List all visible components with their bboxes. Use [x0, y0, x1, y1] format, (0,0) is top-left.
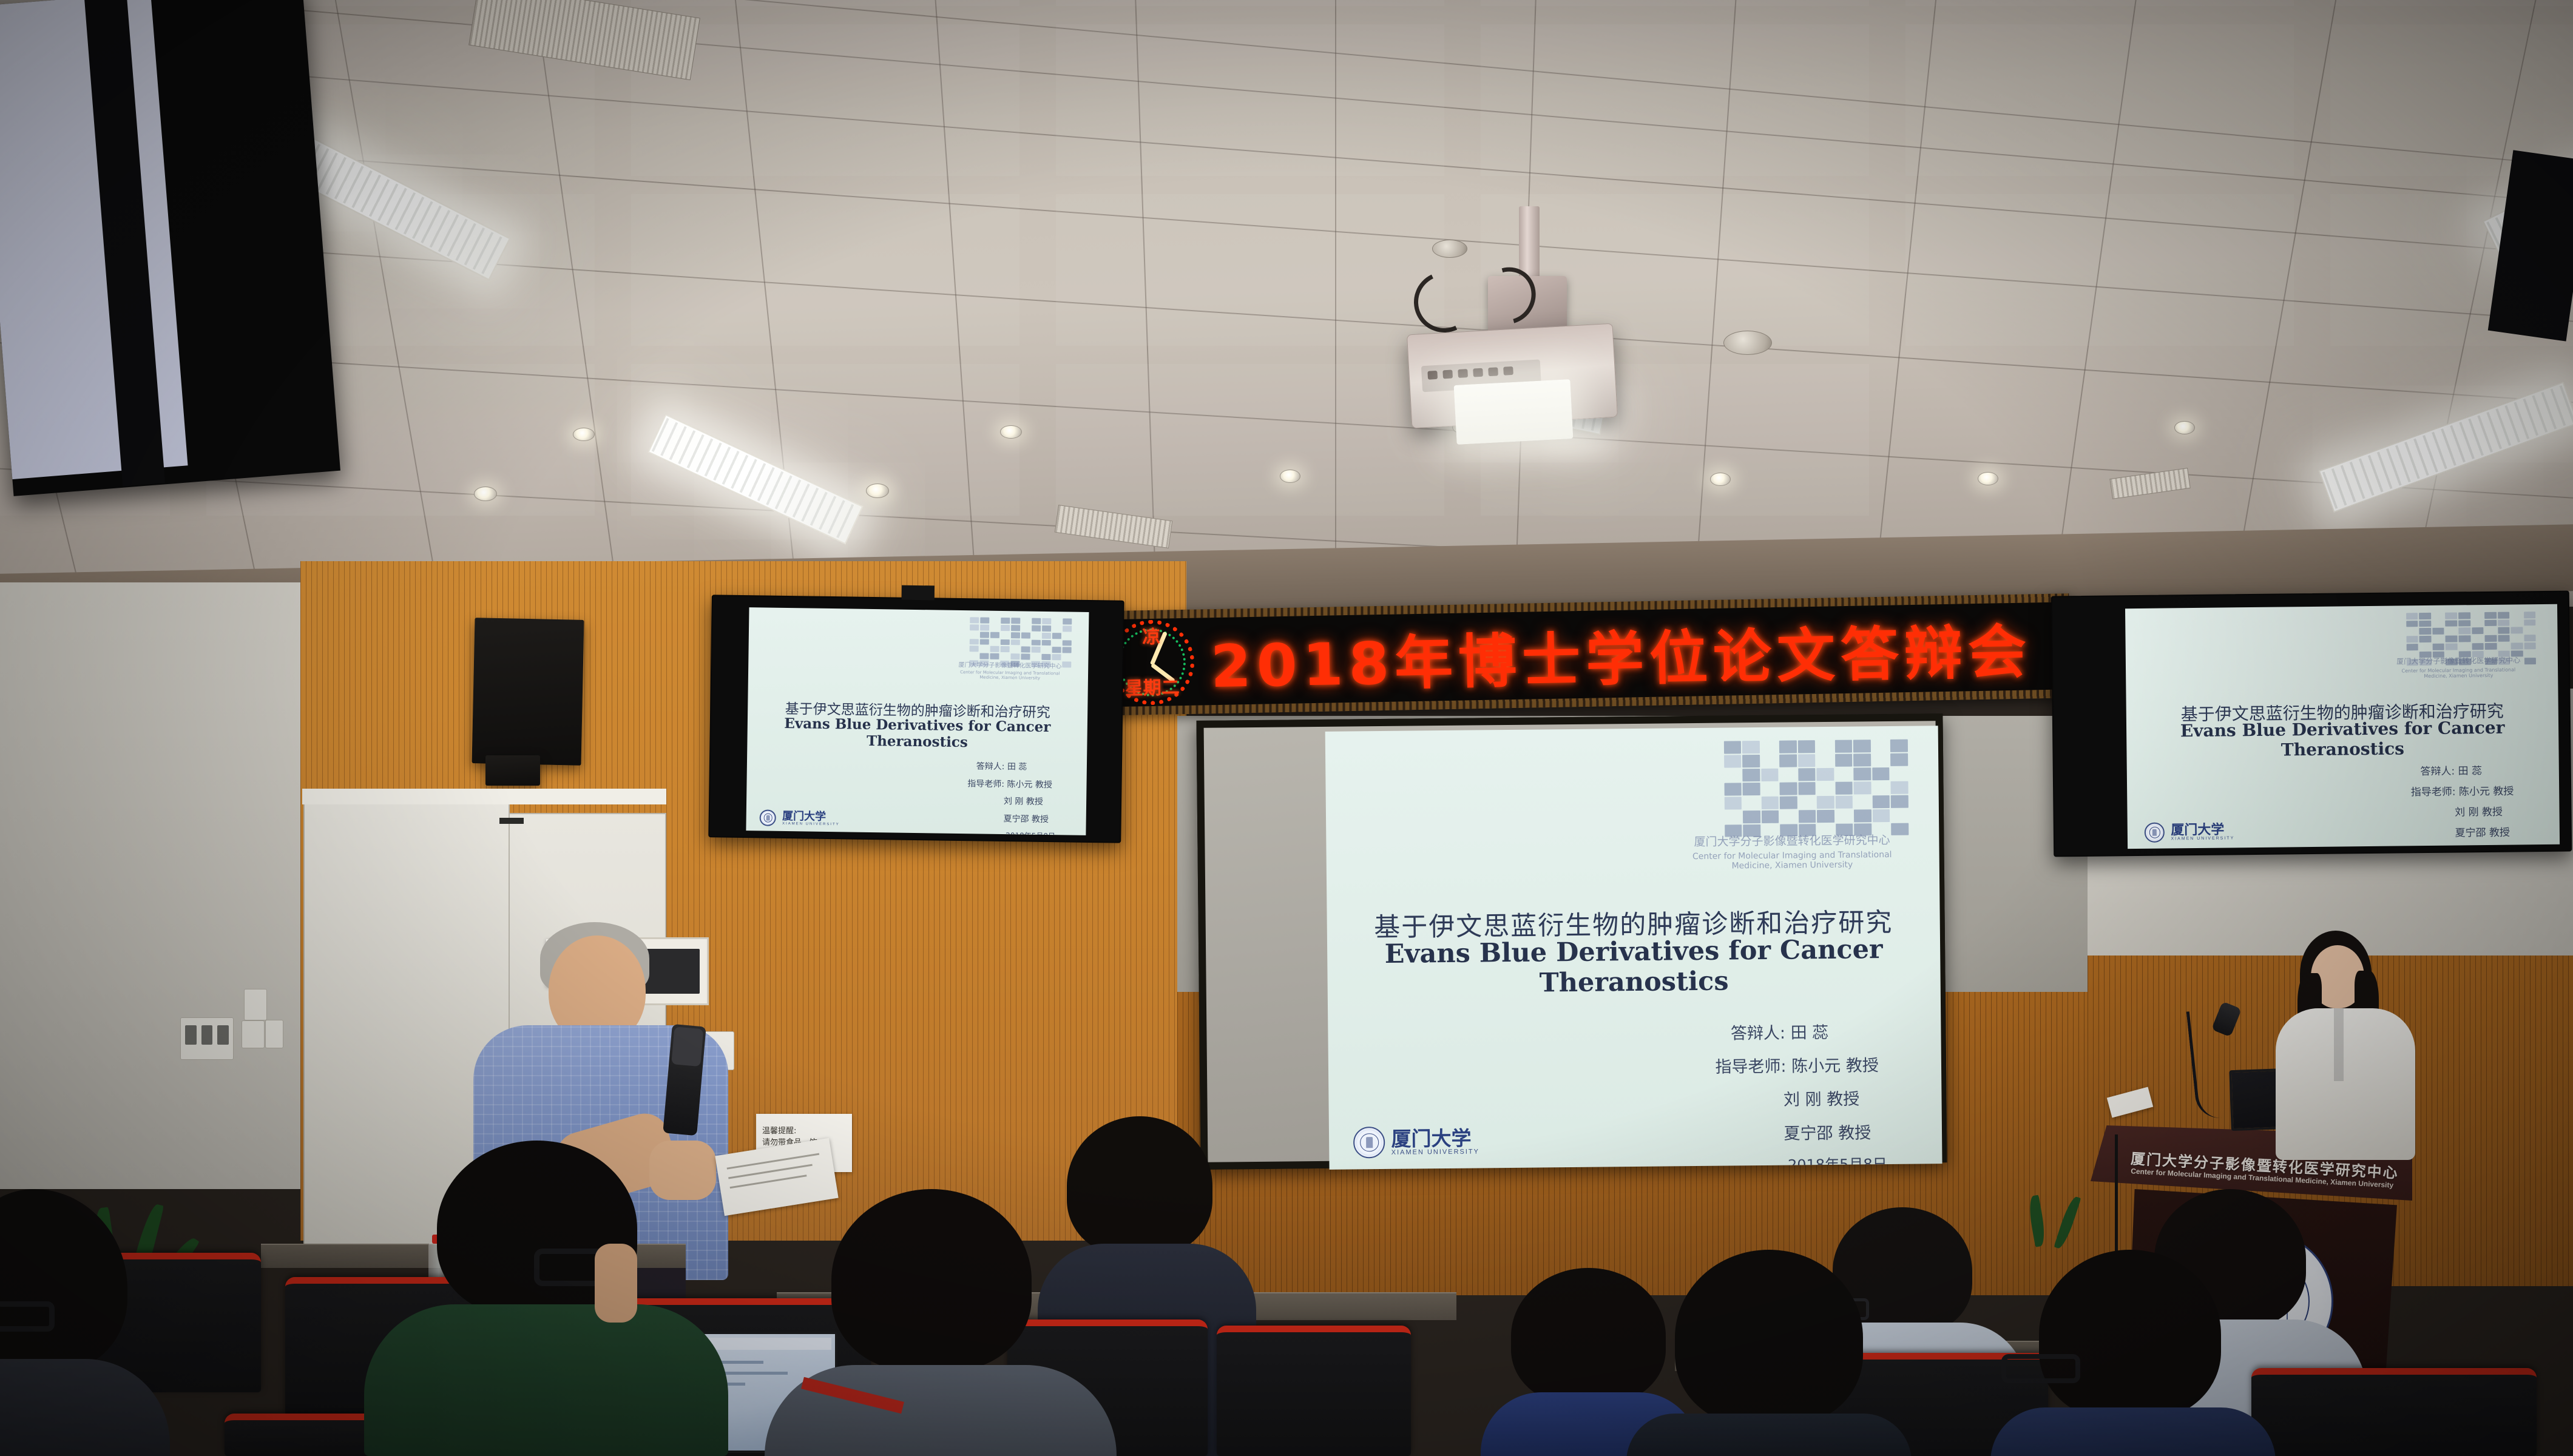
- ceiling-downlight: [1280, 470, 1300, 483]
- xmu-logo-cn: 厦门大学: [782, 811, 840, 822]
- wall-speaker-bracket: [485, 755, 540, 786]
- aux-monitor-left: 厦门大学分子影像暨转化医学研究中心 Center for Molecular I…: [708, 595, 1124, 843]
- xmu-seal-icon: [760, 809, 776, 826]
- aux-monitor-right: 厦门大学分子影像暨转化医学研究中心 Center for Molecular I…: [2051, 591, 2572, 857]
- slide-presenter: 答辩人: 田 蕊: [1731, 1016, 1886, 1051]
- ceiling-tile-grid: [0, 0, 2573, 607]
- slide-meta-block: 答辩人: 田 蕊 指导老师: 陈小元 教授 刘 刚 教授 夏宁邵 教授 2018…: [2420, 761, 2521, 849]
- slide-header-cn: 厦门大学分子影像暨转化医学研究中心: [2376, 655, 2541, 667]
- slide-advisor-2: 刘 刚 教授: [2455, 802, 2521, 823]
- slide-header-block: 厦门大学分子影像暨转化医学研究中心 Center for Molecular I…: [2376, 655, 2541, 679]
- wall-switch-plate-triple[interactable]: [180, 1017, 234, 1060]
- slide-header-en-2: Medicine, Xiamen University: [1675, 860, 1909, 872]
- slide-header-cn: 厦门大学分子影像暨转化医学研究中心: [1675, 831, 1909, 850]
- ceiling-downlight: [573, 428, 595, 441]
- wall-outlet-lower-left[interactable]: [242, 1020, 265, 1048]
- slide-advisor-3: 夏宁邵 教授: [1003, 811, 1055, 829]
- left-wall-plaster: [0, 582, 309, 1189]
- xmu-logo-en: XIAMEN UNIVERSITY: [782, 821, 840, 826]
- aux-monitor-left-slide: 厦门大学分子影像暨转化医学研究中心 Center for Molecular I…: [746, 607, 1089, 835]
- xmu-seal-icon: [1353, 1127, 1385, 1158]
- ceiling-downlight: [2174, 421, 2195, 434]
- slide-xmu-logo: 厦门大学 XIAMEN UNIVERSITY: [760, 809, 840, 827]
- slide-advisor-1: 指导老师: 陈小元 教授: [1715, 1049, 1886, 1084]
- ceiling-downlight: [866, 484, 889, 498]
- slide-advisor-2: 刘 刚 教授: [1004, 793, 1056, 811]
- xmu-logo-en: XIAMEN UNIVERSITY: [2171, 836, 2234, 841]
- led-banner-display: 凉 星期二 2018年博士学位论文答辩会: [1087, 602, 2067, 707]
- slide-header-block: 厦门大学分子影像暨转化医学研究中心 Center for Molecular I…: [945, 659, 1075, 681]
- microphone-grille: [671, 1026, 703, 1067]
- slide-date: 2018年5月8日: [1006, 828, 1055, 835]
- slide-meta-block: 答辩人: 田 蕊 指导老师: 陈小元 教授 刘 刚 教授 夏宁邵 教授 2018…: [1731, 1016, 1887, 1170]
- ceiling: [0, 0, 2573, 607]
- slide-presenter: 答辩人: 田 蕊: [976, 758, 1057, 777]
- slide-advisor-3: 夏宁邵 教授: [1784, 1116, 1887, 1151]
- xmu-logo-cn: 厦门大学: [1391, 1128, 1479, 1148]
- presenter-blouse-placket: [2334, 1008, 2344, 1081]
- aux-monitor-right-slide: 厦门大学分子影像暨转化医学研究中心 Center for Molecular I…: [2125, 604, 2560, 849]
- door-frame-header: [302, 789, 666, 804]
- slide-presenter: 答辩人: 田 蕊: [2420, 761, 2520, 783]
- slide-advisor-3: 夏宁邵 教授: [2455, 823, 2521, 844]
- xmu-logo-cn: 厦门大学: [2171, 823, 2234, 837]
- wall-speaker: [472, 618, 584, 766]
- person-presenter: [2282, 934, 2421, 1153]
- slide-title-en: Evans Blue Derivatives for Cancer Theran…: [764, 715, 1070, 752]
- slide-header-cn: 厦门大学分子影像暨转化医学研究中心: [945, 659, 1075, 670]
- xmu-logo-en: XIAMEN UNIVERSITY: [1391, 1148, 1479, 1156]
- led-banner-text: 2018年博士学位论文答辩会: [1194, 604, 2067, 704]
- xmu-seal-icon: [2145, 823, 2165, 843]
- projector-lens-glow: [1454, 379, 1574, 445]
- led-banner: 凉 星期二 2018年博士学位论文答辩会: [1083, 593, 2071, 716]
- ceiling-downlight: [1710, 473, 1731, 486]
- ceiling-downlight: [1978, 472, 1998, 485]
- slide-header-block: 厦门大学分子影像暨转化医学研究中心 Center for Molecular I…: [1675, 831, 1909, 872]
- slide-xmu-logo: 厦门大学 XIAMEN UNIVERSITY: [2145, 821, 2234, 843]
- slide-title-en: Evans Blue Derivatives for Cancer Theran…: [1358, 934, 1910, 1000]
- projected-slide: 厦门大学分子影像暨转化医学研究中心 Center for Molecular I…: [1325, 726, 1942, 1170]
- slide-date: 2018年5月8日: [2459, 843, 2521, 849]
- slide-advisor-1: 指导老师: 陈小元 教授: [2411, 781, 2521, 803]
- sprinkler-head-icon: [1432, 240, 1467, 258]
- wall-outlet-upper[interactable]: [244, 989, 267, 1020]
- ceiling-downlight: [474, 487, 497, 501]
- projection-screen-unit: 厦门大学分子影像暨转化医学研究中心 Center for Molecular I…: [1196, 713, 1947, 1170]
- conference-room-scene: 请勿带食品 进入会场 温馨提醒: 请勿带食品、饮 料进入报告厅! 凉 星期二: [0, 0, 2573, 1456]
- smoke-detector-icon: [1723, 331, 1772, 355]
- presenter-torso: [2276, 1008, 2415, 1160]
- wall-outlet-lower-right[interactable]: [265, 1020, 283, 1048]
- ceiling-downlight: [1000, 425, 1022, 439]
- slide-meta-block: 答辩人: 田 蕊 指导老师: 陈小元 教授 刘 刚 教授 夏宁邵 教授 2018…: [975, 758, 1057, 835]
- door-handle[interactable]: [499, 818, 524, 824]
- slide-title-en: Evans Blue Derivatives for Cancer Theran…: [2148, 717, 2537, 761]
- slide-advisor-2: 刘 刚 教授: [1784, 1082, 1887, 1117]
- slide-logo-dot-matrix: [1723, 739, 1909, 837]
- wall-tv-top-left: tics 教授 教授 教授 月8日: [0, 0, 340, 496]
- slide-advisor-1: 指导老师: 陈小元 教授: [967, 775, 1056, 794]
- slide-xmu-logo: 厦门大学 XIAMEN UNIVERSITY: [1353, 1125, 1479, 1158]
